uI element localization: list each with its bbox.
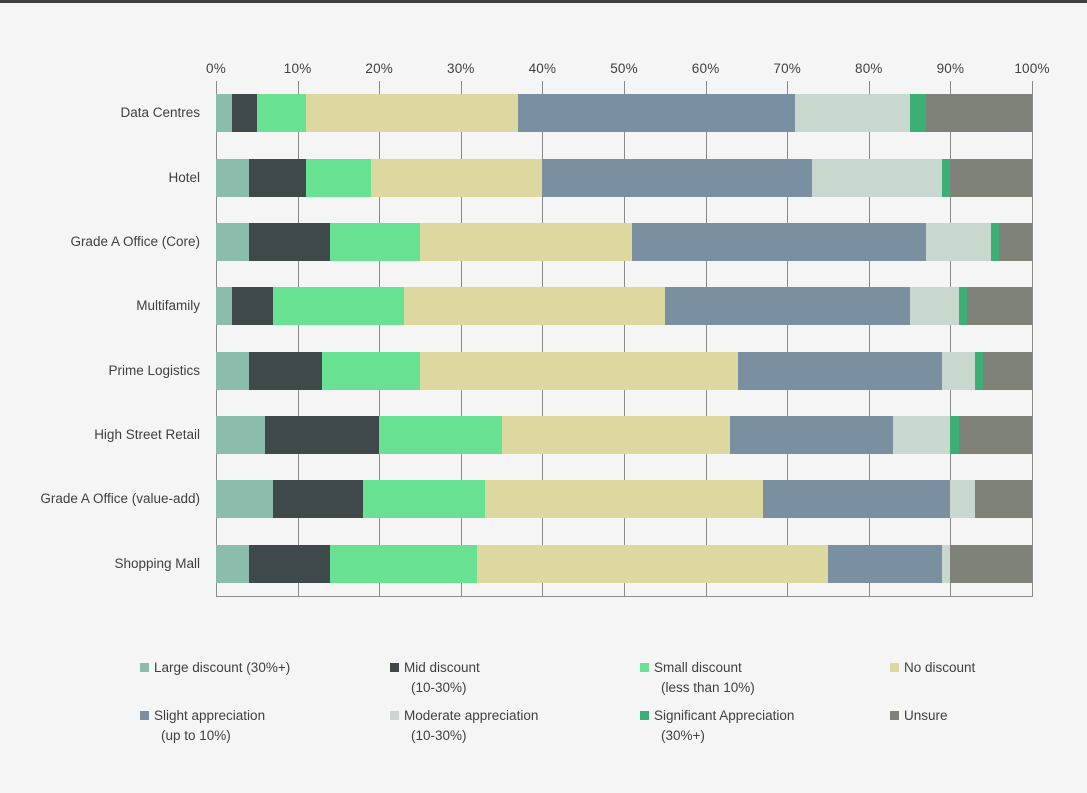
- x-tick-label: 40%: [529, 61, 557, 76]
- bar-row: [216, 287, 1032, 325]
- legend-swatch-icon: [640, 663, 649, 672]
- legend-label-line1: Significant Appreciation: [654, 708, 794, 723]
- stacked-bar[interactable]: [216, 287, 1032, 325]
- x-tick-label: 20%: [365, 61, 393, 76]
- bar-segment[interactable]: [975, 480, 1032, 518]
- gridline: [1032, 81, 1033, 596]
- stacked-bar[interactable]: [216, 159, 1032, 197]
- stacked-bar-chart: 0%10%20%30%40%50%60%70%80%90%100% Data C…: [0, 3, 1087, 623]
- stacked-bar[interactable]: [216, 480, 1032, 518]
- bar-segment[interactable]: [216, 223, 249, 261]
- legend-label-line1: Unsure: [904, 708, 948, 723]
- stacked-bar[interactable]: [216, 223, 1032, 261]
- x-tick-label: 10%: [284, 61, 312, 76]
- bar-row: [216, 159, 1032, 197]
- bar-segment[interactable]: [232, 287, 273, 325]
- bar-segment[interactable]: [216, 352, 249, 390]
- stacked-bar[interactable]: [216, 545, 1032, 583]
- y-axis-category-labels: Data CentresHotelGrade A Office (Core)Mu…: [0, 81, 200, 596]
- bar-segment[interactable]: [795, 94, 909, 132]
- bar-segment[interactable]: [273, 480, 363, 518]
- bar-segment[interactable]: [542, 159, 811, 197]
- bar-segment[interactable]: [942, 352, 975, 390]
- legend-swatch-icon: [140, 711, 149, 720]
- legend-swatch-icon: [890, 711, 899, 720]
- legend-item[interactable]: Large discount (30%+): [140, 658, 390, 706]
- bar-segment[interactable]: [420, 352, 738, 390]
- bar-row: [216, 223, 1032, 261]
- bar-row: [216, 352, 1032, 390]
- category-label: Hotel: [0, 159, 200, 197]
- bar-segment[interactable]: [216, 416, 265, 454]
- bar-segment[interactable]: [232, 94, 256, 132]
- bar-segment[interactable]: [249, 159, 306, 197]
- plot-area: [216, 81, 1032, 596]
- legend-label-line2: (10-30%): [404, 726, 538, 746]
- bar-segment[interactable]: [926, 94, 1032, 132]
- legend-label: Small discount(less than 10%): [654, 658, 755, 698]
- x-axis-line: [216, 596, 1033, 597]
- bar-segment[interactable]: [632, 223, 926, 261]
- bar-segment[interactable]: [363, 480, 485, 518]
- chart-page: 0%10%20%30%40%50%60%70%80%90%100% Data C…: [0, 0, 1087, 793]
- legend-item[interactable]: No discount: [890, 658, 1040, 706]
- legend-label: No discount: [904, 658, 975, 678]
- bar-segment[interactable]: [371, 159, 542, 197]
- category-label: Grade A Office (value-add): [0, 480, 200, 518]
- x-tick-label: 30%: [447, 61, 475, 76]
- legend-label-line2: (less than 10%): [654, 678, 755, 698]
- bar-segment[interactable]: [216, 287, 232, 325]
- bar-segment[interactable]: [518, 94, 795, 132]
- bar-segment[interactable]: [379, 416, 501, 454]
- bar-segment[interactable]: [330, 545, 477, 583]
- legend-label-line1: Mid discount: [404, 660, 480, 675]
- bar-segment[interactable]: [249, 352, 322, 390]
- bar-segment[interactable]: [665, 287, 910, 325]
- legend-label: Moderate appreciation(10-30%): [404, 706, 538, 746]
- legend-label: Mid discount(10-30%): [404, 658, 480, 698]
- legend-swatch-icon: [890, 663, 899, 672]
- bar-row: [216, 94, 1032, 132]
- bar-segment[interactable]: [404, 287, 665, 325]
- legend-label-line1: Moderate appreciation: [404, 708, 538, 723]
- bar-segment[interactable]: [216, 159, 249, 197]
- category-label: Multifamily: [0, 287, 200, 325]
- category-label: Shopping Mall: [0, 545, 200, 583]
- legend-label-line2: (up to 10%): [154, 726, 265, 746]
- legend-swatch-icon: [640, 711, 649, 720]
- bar-segment[interactable]: [330, 223, 420, 261]
- x-axis-tick-labels: 0%10%20%30%40%50%60%70%80%90%100%: [216, 61, 1032, 79]
- bar-segment[interactable]: [216, 94, 232, 132]
- bar-segment[interactable]: [306, 159, 371, 197]
- bar-segment[interactable]: [991, 223, 999, 261]
- bar-segment[interactable]: [950, 159, 1032, 197]
- bar-segment[interactable]: [420, 223, 632, 261]
- legend-label: Significant Appreciation(30%+): [654, 706, 794, 746]
- bar-segment[interactable]: [926, 223, 991, 261]
- x-tick-label: 100%: [1014, 61, 1049, 76]
- category-label: Data Centres: [0, 94, 200, 132]
- legend-item[interactable]: Small discount(less than 10%): [640, 658, 890, 706]
- chart-legend: Large discount (30%+)Mid discount(10-30%…: [140, 658, 1040, 754]
- bar-segment[interactable]: [910, 94, 926, 132]
- category-label: High Street Retail: [0, 416, 200, 454]
- bar-segment[interactable]: [273, 287, 404, 325]
- legend-row-1: Large discount (30%+)Mid discount(10-30%…: [140, 658, 1040, 706]
- legend-swatch-icon: [390, 663, 399, 672]
- legend-label: Slight appreciation(up to 10%): [154, 706, 265, 746]
- bar-segment[interactable]: [322, 352, 420, 390]
- x-tick-label: 60%: [692, 61, 720, 76]
- bar-segment[interactable]: [306, 94, 518, 132]
- bar-segment[interactable]: [216, 480, 273, 518]
- legend-row-2: Slight appreciation(up to 10%)Moderate a…: [140, 706, 1040, 754]
- bar-segment[interactable]: [967, 287, 1032, 325]
- legend-label-line2: (30%+): [654, 726, 794, 746]
- x-tick-label: 70%: [773, 61, 801, 76]
- bar-segment[interactable]: [477, 545, 828, 583]
- bar-segment[interactable]: [257, 94, 306, 132]
- legend-label: Unsure: [904, 706, 948, 726]
- bar-segment[interactable]: [828, 545, 942, 583]
- bar-segment[interactable]: [983, 352, 1032, 390]
- bar-segment[interactable]: [730, 416, 893, 454]
- category-label: Prime Logistics: [0, 352, 200, 390]
- bar-row: [216, 480, 1032, 518]
- legend-item[interactable]: Moderate appreciation(10-30%): [390, 706, 640, 754]
- bar-segment[interactable]: [812, 159, 943, 197]
- legend-swatch-icon: [140, 663, 149, 672]
- bar-row: [216, 545, 1032, 583]
- legend-label-line1: No discount: [904, 660, 975, 675]
- bar-segment[interactable]: [950, 545, 1032, 583]
- bar-segment[interactable]: [910, 287, 959, 325]
- bar-segment[interactable]: [942, 159, 950, 197]
- stacked-bar[interactable]: [216, 94, 1032, 132]
- bar-segment[interactable]: [485, 480, 762, 518]
- bar-segment[interactable]: [999, 223, 1032, 261]
- bar-segment[interactable]: [950, 480, 974, 518]
- stacked-bar[interactable]: [216, 416, 1032, 454]
- legend-label: Large discount (30%+): [154, 658, 290, 678]
- bar-segment[interactable]: [942, 545, 950, 583]
- bar-segment[interactable]: [975, 352, 983, 390]
- x-tick-label: 50%: [610, 61, 638, 76]
- legend-label-line2: (10-30%): [404, 678, 480, 698]
- stacked-bar[interactable]: [216, 352, 1032, 390]
- x-tick-label: 0%: [206, 61, 226, 76]
- x-tick-label: 90%: [937, 61, 965, 76]
- legend-label-line1: Slight appreciation: [154, 708, 265, 723]
- bar-segment[interactable]: [959, 287, 967, 325]
- bar-segment[interactable]: [249, 223, 331, 261]
- x-tick-label: 80%: [855, 61, 883, 76]
- legend-item[interactable]: Slight appreciation(up to 10%): [140, 706, 390, 754]
- legend-item[interactable]: Significant Appreciation(30%+): [640, 706, 890, 754]
- bar-segment[interactable]: [249, 545, 331, 583]
- legend-item[interactable]: Mid discount(10-30%): [390, 658, 640, 706]
- bar-row: [216, 416, 1032, 454]
- bar-segment[interactable]: [959, 416, 1032, 454]
- bar-segment[interactable]: [763, 480, 951, 518]
- legend-label-line1: Small discount: [654, 660, 742, 675]
- bar-segment[interactable]: [216, 545, 249, 583]
- legend-swatch-icon: [390, 711, 399, 720]
- legend-label-line1: Large discount (30%+): [154, 660, 290, 675]
- bar-segment[interactable]: [950, 416, 958, 454]
- bar-segment[interactable]: [893, 416, 950, 454]
- legend-item[interactable]: Unsure: [890, 706, 1040, 754]
- bar-segment[interactable]: [265, 416, 379, 454]
- bar-segment[interactable]: [738, 352, 942, 390]
- bar-segment[interactable]: [502, 416, 730, 454]
- category-label: Grade A Office (Core): [0, 223, 200, 261]
